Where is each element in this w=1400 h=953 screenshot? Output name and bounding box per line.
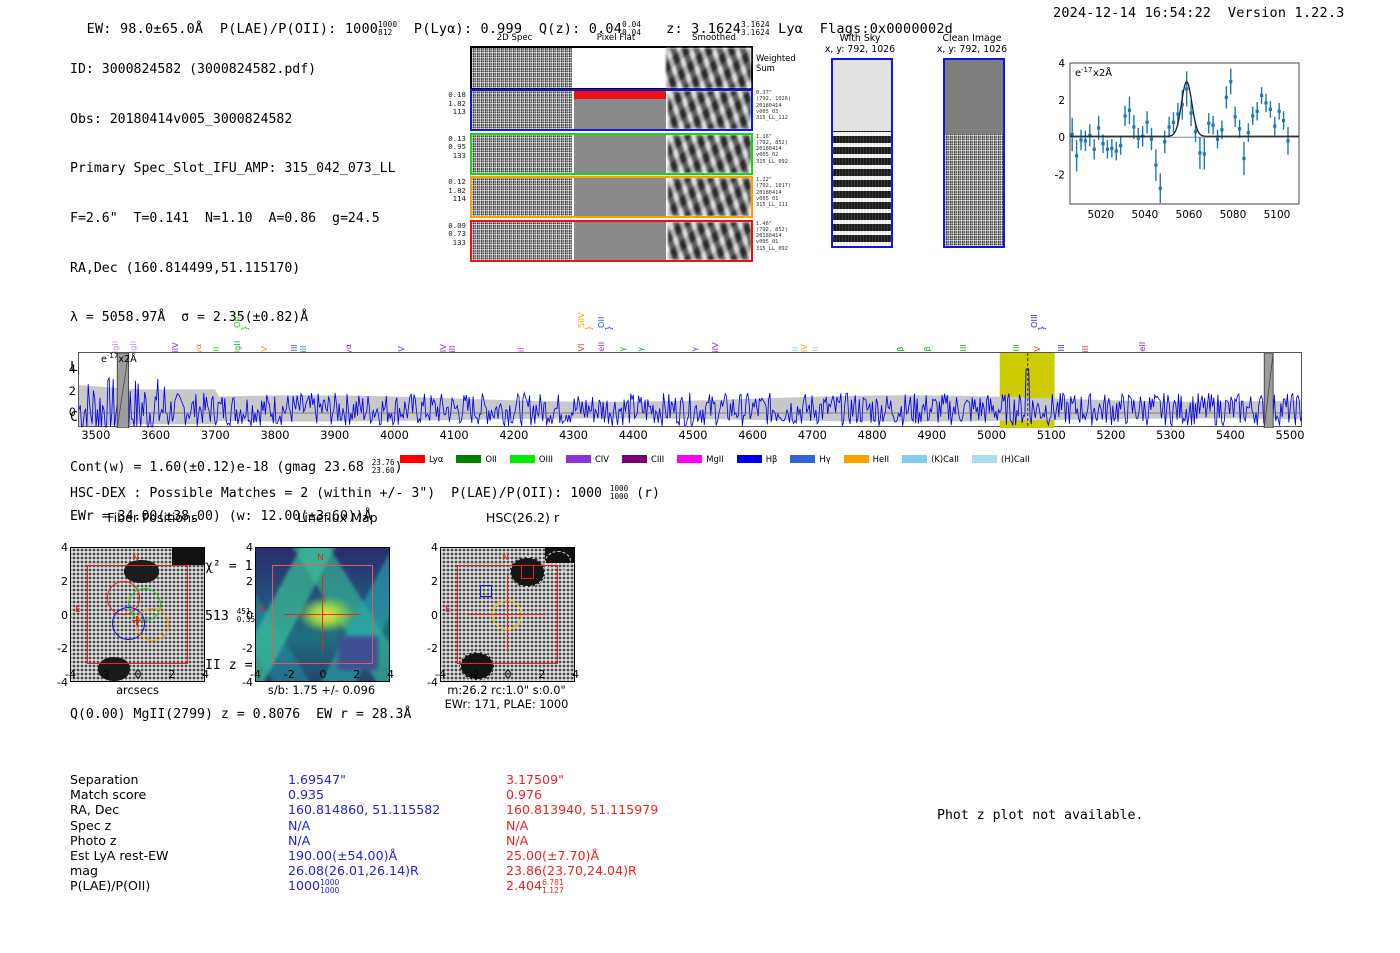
- row-value-blue: 190.00(±54.00)Å: [288, 848, 506, 863]
- fiber-2dspec: [472, 135, 572, 173]
- hscdex-header: HSC-DEX : Possible Matches = 2 (within +…: [70, 485, 660, 501]
- legend-entry: MgII: [677, 454, 723, 464]
- blue-plae-range: 10001000: [320, 879, 339, 895]
- spectrum-xtick: 4700: [786, 428, 838, 442]
- legend-label: HeII: [873, 454, 889, 464]
- spectrum-xtick: 4200: [488, 428, 540, 442]
- fiber-positions-title: Fiber Positions: [60, 510, 245, 525]
- hsc-r-title: HSC(26.2) r: [430, 510, 615, 525]
- cutout-xtick: 4: [377, 668, 404, 681]
- legend-swatch: [902, 455, 927, 463]
- fiber-compass-e: E: [75, 605, 81, 615]
- legend-swatch: [972, 455, 997, 463]
- cutout-xtick: 2: [158, 668, 185, 681]
- cutout-ytick: -2: [46, 642, 68, 655]
- spectrum-xtick: 3800: [249, 428, 301, 442]
- fiber-left-stats: 0.12 1.82 114: [420, 178, 466, 204]
- spectral-line-label: SiIV: [576, 312, 586, 328]
- red-plae-range: 6.7811.127: [542, 879, 564, 895]
- fiber-right-meta: 1.22" (792, 1017) 20180414 v005_01 315_L…: [756, 177, 816, 208]
- row-label: P(LAE)/P(OII): [70, 878, 288, 894]
- table-row: Est LyA rest-EW190.00(±54.00)Å25.00(±7.7…: [70, 848, 724, 863]
- cutout-xtick: -4: [57, 668, 84, 681]
- spectrum-xtick: 4900: [906, 428, 958, 442]
- legend-swatch: [622, 455, 647, 463]
- table-row: Spec zN/AN/A: [70, 818, 724, 833]
- fiber-left-stats: 0.18 1.82 113: [420, 91, 466, 117]
- legend-entry: OII: [456, 454, 497, 464]
- spectrum-xtick: 3900: [309, 428, 361, 442]
- line-id-labels: MgII}MgII}SiIV}Lyα}OII}MgII}OII}NV}OIII}…: [70, 280, 1310, 352]
- legend-entry: (H)CaII: [972, 454, 1030, 464]
- clean-image-panel: Clean Image x, y: 792, 1026: [922, 33, 1022, 55]
- spectral-line-bracket: }: [585, 325, 595, 331]
- spectrum-legend: LyαOIIOIIICIVCIIIMgIIHβHγHeII(K)CaII(H)C…: [400, 448, 1300, 462]
- cutout-ytick: 4: [46, 541, 68, 554]
- legend-label: CIII: [651, 454, 664, 464]
- table-row: Photo zN/AN/A: [70, 833, 724, 848]
- with-sky-panel: With Sky x, y: 792, 1026: [810, 33, 910, 55]
- fiber-compass-n: N: [132, 553, 139, 563]
- legend-label: MgII: [706, 454, 723, 464]
- lineflux-map-xlabel: s/b: 1.75 +/- 0.096: [239, 683, 404, 697]
- spectral-line-bracket: }: [605, 325, 615, 331]
- cutout-xtick: 2: [343, 668, 370, 681]
- legend-swatch: [400, 455, 425, 463]
- cutout-xtick: 2: [528, 668, 555, 681]
- row-value-red: 160.813940, 51.115979: [506, 802, 724, 817]
- weighted-sum-smoothed: [666, 48, 751, 88]
- cutout-xtick: 0: [125, 668, 152, 681]
- emission-line-zoom-plot: -202450205040506050805100e-17x2Å: [1040, 55, 1305, 230]
- spectrum-xtick: 4600: [727, 428, 779, 442]
- cutout-xtick: -4: [242, 668, 269, 681]
- svg-text:0: 0: [1058, 132, 1065, 144]
- lineflux-map-title: Lineflux Map: [245, 510, 430, 525]
- cutout-lineflux-map: Lineflux Map N E 420-2-4 -4-2024 s/b: 1.…: [245, 510, 430, 660]
- row-label: Match score: [70, 787, 288, 802]
- cutout-ytick: 0: [231, 609, 253, 622]
- legend-entry: CIV: [566, 454, 609, 464]
- legend-entry: Lyα: [400, 454, 443, 464]
- row-label: Spec z: [70, 818, 288, 833]
- cutout-xtick: 4: [192, 668, 219, 681]
- hsc-compass-n: N: [502, 553, 509, 563]
- info-id: ID: 3000824582 (3000824582.pdf): [70, 62, 411, 79]
- table-row: mag26.08(26.01,26.14)R23.86(23.70,24.04)…: [70, 863, 724, 878]
- spectrum-xtick: 4000: [368, 428, 420, 442]
- row-label: Separation: [70, 772, 288, 787]
- spectrum-ytick: 2: [56, 384, 76, 398]
- row-value-blue: 1.69547": [288, 772, 506, 787]
- spectrum-xtick: 5200: [1085, 428, 1137, 442]
- cutout-hsc-r: HSC(26.2) r N E 420-2-4 -4-2024 m:26.2 r…: [430, 510, 615, 660]
- spectrum-xtick: 4300: [548, 428, 600, 442]
- fiber-right-meta: 1.46" (792, 852) 20180414 v005_01 315_LL…: [756, 221, 816, 252]
- legend-entry: Hγ: [790, 454, 830, 464]
- cutout-xtick: -2: [461, 668, 488, 681]
- svg-text:x2Å: x2Å: [1093, 66, 1112, 79]
- row-label: Est LyA rest-EW: [70, 848, 288, 863]
- row-value-blue: 0.935: [288, 787, 506, 802]
- clean-image-data: [943, 58, 1005, 248]
- spectrum-xtick: 5500: [1264, 428, 1316, 442]
- match-table: Separation1.69547"3.17509"Match score0.9…: [70, 772, 724, 895]
- hsc-r-xlabel: m:26.2 rc:1.0" s:0.0": [424, 683, 589, 697]
- row-value-red: N/A: [506, 818, 724, 833]
- row-label: Photo z: [70, 833, 288, 848]
- cutout-ytick: 4: [231, 541, 253, 554]
- legend-swatch: [844, 455, 869, 463]
- fiber-positions-xlabel: arcsecs: [70, 683, 205, 697]
- spectrum-xtick: 5300: [1145, 428, 1197, 442]
- legend-swatch: [677, 455, 702, 463]
- fiber-right-meta: 0.37" (792, 1026) 20180414 v005_03 315_L…: [756, 90, 816, 121]
- cutout-ytick: 2: [416, 575, 438, 588]
- sky-image-panels: With Sky x, y: 792, 1026 Clean Image x, …: [810, 33, 1025, 263]
- svg-text:5060: 5060: [1176, 209, 1203, 221]
- legend-label: Hβ: [766, 454, 778, 464]
- legend-swatch: [790, 455, 815, 463]
- legend-swatch: [510, 455, 535, 463]
- fiber-rows: 0.18 1.82 1130.37" (792, 1026) 20180414 …: [462, 89, 802, 264]
- emission-line-zoom-svg: -202450205040506050805100e-17x2Å: [1040, 55, 1305, 230]
- hscdex-plae-range: 10001000: [610, 485, 628, 501]
- legend-swatch: [566, 455, 591, 463]
- legend-label: OIII: [539, 454, 553, 464]
- fiber-row[interactable]: [470, 176, 753, 218]
- spectrum-xtick: 4100: [428, 428, 480, 442]
- fiber-pixelflat: [574, 135, 666, 173]
- fiber-pixelflat: [574, 222, 666, 260]
- weighted-sum-label: Weighted Sum: [756, 53, 796, 73]
- spectrum-y-ticks: 024: [70, 352, 1302, 427]
- legend-entry: HeII: [844, 454, 889, 464]
- spectrum-xtick: 5100: [1025, 428, 1077, 442]
- table-row: Match score0.9350.976: [70, 787, 724, 802]
- spectrum-xtick: 4800: [846, 428, 898, 442]
- hsc-compass-e: E: [445, 605, 451, 615]
- table-row: Separation1.69547"3.17509": [70, 772, 724, 787]
- cutout-ytick: 2: [231, 575, 253, 588]
- fiber-positions-xticks: -4-2024: [70, 668, 205, 682]
- cutout-ytick: 4: [416, 541, 438, 554]
- fiber-smoothed: [668, 222, 751, 260]
- cutout-xtick: -2: [276, 668, 303, 681]
- legend-swatch: [737, 455, 762, 463]
- lineflux-compass-n: N: [317, 553, 324, 563]
- row-value-red: 2.4046.7811.127: [506, 878, 724, 894]
- clean-image-title: Clean Image: [922, 33, 1022, 44]
- hsc-r-yticks: 420-2-4: [430, 532, 440, 667]
- svg-text:-17: -17: [1081, 66, 1092, 74]
- fiber-2dspec: [472, 222, 572, 260]
- spectrum-ytick: 4: [56, 362, 76, 376]
- fiber-2dspec: [472, 91, 572, 129]
- svg-text:5080: 5080: [1220, 209, 1247, 221]
- cutout-panels: Fiber Positions N E 420-2-4 -4-2024 arcs…: [60, 510, 620, 735]
- with-sky-image: [831, 58, 893, 248]
- row-label: mag: [70, 863, 288, 878]
- hsc-r-image[interactable]: N E: [440, 547, 575, 682]
- cutout-ytick: -2: [416, 642, 438, 655]
- fiber-2dspec: [472, 178, 572, 216]
- fiber-left-stats: 0.13 0.95 133: [420, 135, 466, 161]
- cutout-ytick: -2: [231, 642, 253, 655]
- fiber-pixelflat: [574, 178, 666, 216]
- weighted-sum-pixelflat: [572, 48, 666, 88]
- spectral-line-bracket: }: [1038, 325, 1048, 331]
- info-obs: Obs: 20180414v005_3000824582: [70, 112, 411, 129]
- lineflux-map-yticks: 420-2-4: [245, 532, 255, 667]
- with-sky-title: With Sky: [810, 33, 910, 44]
- fiber-row[interactable]: [470, 89, 753, 131]
- photz-note: Phot z plot not available.: [937, 808, 1143, 823]
- cutout-xtick: 0: [495, 668, 522, 681]
- row-value-blue: N/A: [288, 818, 506, 833]
- legend-entry: CIII: [622, 454, 664, 464]
- weighted-sum-2dspec: [472, 48, 572, 88]
- fiber-pixelflat: [574, 91, 666, 129]
- fiber-positions-yticks: 420-2-4: [60, 532, 70, 667]
- spectrum-xtick: 3500: [70, 428, 122, 442]
- cutout-xtick: -2: [91, 668, 118, 681]
- info-primary: Primary Spec_Slot_IFU_AMP: 315_042_073_L…: [70, 161, 411, 178]
- spectrum-xtick: 4500: [667, 428, 719, 442]
- spectrum-x-ticks: 3500360037003800390040004100420043004400…: [70, 428, 1310, 444]
- legend-label: (K)CaII: [931, 454, 959, 464]
- svg-text:2: 2: [1058, 95, 1065, 107]
- cutout-ytick: 2: [46, 575, 68, 588]
- timestamp-version: 2024-12-14 16:54:22 Version 1.22.3: [1053, 5, 1344, 21]
- with-sky-coords: x, y: 792, 1026: [810, 44, 910, 55]
- row-value-red: 0.976: [506, 787, 724, 802]
- cutout-xtick: -4: [427, 668, 454, 681]
- row-value-red: 23.86(23.70,24.04)R: [506, 863, 724, 878]
- spectrum-xtick: 5000: [966, 428, 1018, 442]
- spectra-montage: 2D Spec Pixel Flat Smoothed Weighted Sum…: [462, 33, 802, 263]
- svg-text:5040: 5040: [1131, 209, 1158, 221]
- cutout-ytick: 0: [416, 609, 438, 622]
- fiber-right-meta: 1.16" (792, 852) 20180414 v005_02 315_LL…: [756, 134, 816, 165]
- lineflux-compass-e: E: [260, 605, 266, 615]
- svg-text:-2: -2: [1055, 169, 1065, 181]
- lineflux-map-xticks: -4-2024: [255, 668, 390, 682]
- row-label: RA, Dec: [70, 802, 288, 817]
- weighted-sum-row: [470, 46, 753, 90]
- row-value-blue: N/A: [288, 833, 506, 848]
- spectral-line-bracket: }: [241, 325, 251, 331]
- hsc-r-sublabel: EWr: 171, PLAE: 1000: [424, 697, 589, 711]
- svg-text:5020: 5020: [1087, 209, 1114, 221]
- table-row: RA, Dec160.814860, 51.115582160.813940, …: [70, 802, 724, 817]
- legend-label: CIV: [595, 454, 609, 464]
- row-value-red: 25.00(±7.70)Å: [506, 848, 724, 863]
- svg-text:4: 4: [1058, 58, 1065, 70]
- row-value-blue: 100010001000: [288, 878, 506, 894]
- cutout-xtick: 0: [310, 668, 337, 681]
- table-row: P(LAE)/P(OII)1000100010002.4046.7811.127: [70, 878, 724, 894]
- legend-label: Hγ: [819, 454, 830, 464]
- cutout-fiber-positions: Fiber Positions N E 420-2-4 -4-2024 arcs…: [60, 510, 245, 660]
- fiber-smoothed: [668, 178, 751, 216]
- version: Version 1.22.3: [1228, 5, 1345, 21]
- fiber-row[interactable]: [470, 133, 753, 175]
- fiber-row[interactable]: [470, 220, 753, 262]
- spectrum-xtick: 4400: [607, 428, 659, 442]
- row-value-blue: 160.814860, 51.115582: [288, 802, 506, 817]
- cutout-ytick: 0: [46, 609, 68, 622]
- montage-col-title-2dspec: 2D Spec: [462, 33, 567, 43]
- legend-label: Lyα: [429, 454, 443, 464]
- montage-col-title-pixelflat: Pixel Flat: [567, 33, 665, 43]
- fiber-smoothed: [668, 91, 751, 129]
- montage-col-title-smoothed: Smoothed: [665, 33, 763, 43]
- cutout-xtick: 4: [562, 668, 589, 681]
- legend-label: (H)CaII: [1001, 454, 1030, 464]
- spectrum-xtick: 3600: [130, 428, 182, 442]
- clean-image-coords: x, y: 792, 1026: [922, 44, 1022, 55]
- legend-entry: OIII: [510, 454, 553, 464]
- row-value-blue: 26.08(26.01,26.14)R: [288, 863, 506, 878]
- hsc-r-xticks: -4-2024: [440, 668, 575, 682]
- full-spectrum-plot: MgII}MgII}SiIV}Lyα}OII}MgII}OII}NV}OIII}…: [70, 280, 1310, 470]
- legend-entry: (K)CaII: [902, 454, 959, 464]
- legend-swatch: [456, 455, 481, 463]
- info-seeing: F=2.6" T=0.141 N=1.10 A=0.86 g=24.5: [70, 211, 411, 228]
- row-value-red: N/A: [506, 833, 724, 848]
- info-radec: RA,Dec (160.814499,51.115170): [70, 261, 411, 278]
- spectrum-xtick: 5400: [1204, 428, 1256, 442]
- timestamp: 2024-12-14 16:54:22: [1053, 5, 1211, 21]
- spectrum-xtick: 3700: [189, 428, 241, 442]
- row-value-red: 3.17509": [506, 772, 724, 787]
- svg-text:5100: 5100: [1264, 209, 1291, 221]
- spectrum-ytick: 0: [56, 405, 76, 419]
- fiber-smoothed: [668, 135, 751, 173]
- legend-label: OII: [485, 454, 497, 464]
- fiber-left-stats: 0.09 0.73 133: [420, 222, 466, 248]
- legend-entry: Hβ: [737, 454, 778, 464]
- lineflux-map-image[interactable]: N E: [255, 547, 390, 682]
- fiber-positions-image[interactable]: N E: [70, 547, 205, 682]
